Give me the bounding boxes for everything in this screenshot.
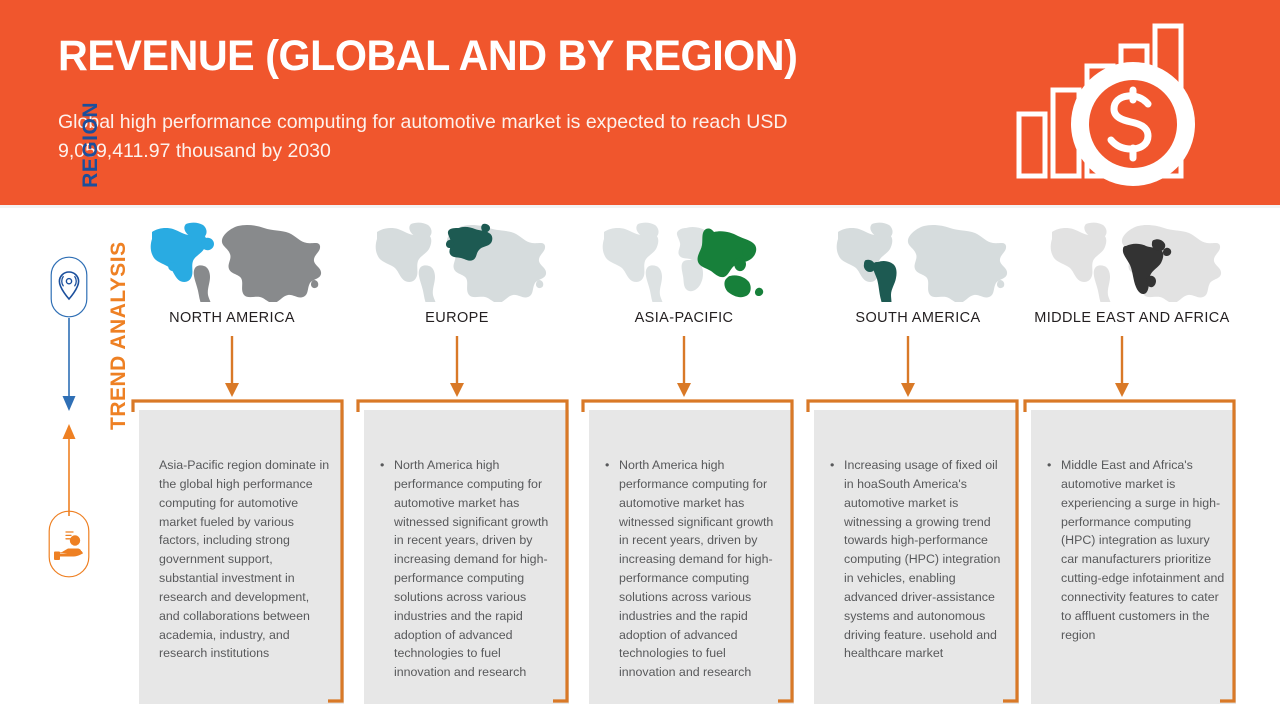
card-text: Middle East and Africa's automotive mark… bbox=[1045, 456, 1225, 644]
trend-card-middle-east-africa: Middle East and Africa's automotive mark… bbox=[1022, 398, 1246, 708]
region-column-south-america: SOUTH AMERICA bbox=[806, 218, 1030, 326]
region-label: ASIA-PACIFIC bbox=[572, 310, 796, 326]
hand-coin-icon bbox=[48, 510, 90, 578]
world-map-middle-east-africa-highlighted bbox=[1042, 218, 1222, 302]
card-text: North America high performance computing… bbox=[603, 456, 783, 682]
card-body: Increasing usage of fixed oil in hoaSout… bbox=[814, 410, 1019, 704]
connector-arrow-south-america bbox=[897, 336, 919, 398]
infographic-page: REVENUE (GLOBAL AND BY REGION) Global hi… bbox=[0, 0, 1280, 720]
world-map-europe-highlighted bbox=[367, 218, 547, 302]
world-map-asia-pacific-highlighted bbox=[594, 218, 774, 302]
card-text: Asia-Pacific region dominate in the glob… bbox=[159, 456, 331, 663]
region-column-asia-pacific: ASIA-PACIFIC bbox=[572, 218, 796, 326]
trend-card-south-america: Increasing usage of fixed oil in hoaSout… bbox=[805, 398, 1029, 708]
region-label: SOUTH AMERICA bbox=[806, 310, 1030, 326]
trend-card-asia-pacific: North America high performance computing… bbox=[580, 398, 804, 708]
down-arrow-blue bbox=[50, 318, 88, 413]
world-map-south-america-highlighted bbox=[828, 218, 1008, 302]
region-label: MIDDLE EAST AND AFRICA bbox=[1020, 310, 1244, 326]
card-body: Middle East and Africa's automotive mark… bbox=[1031, 410, 1236, 704]
connector-arrow-asia-pacific bbox=[673, 336, 695, 398]
trend-card-europe: North America high performance computing… bbox=[355, 398, 579, 708]
trend-card-north-america: Asia-Pacific region dominate in the glob… bbox=[130, 398, 354, 708]
up-arrow-orange bbox=[48, 424, 90, 516]
region-column-europe: EUROPE bbox=[345, 218, 569, 326]
rail-label-region: REGION bbox=[79, 102, 105, 222]
region-column-north-america: NORTH AMERICA bbox=[120, 218, 344, 326]
location-pin-icon bbox=[50, 256, 88, 318]
header-banner: REVENUE (GLOBAL AND BY REGION) Global hi… bbox=[0, 0, 1280, 205]
page-title: REVENUE (GLOBAL AND BY REGION) bbox=[58, 34, 797, 79]
region-column-middle-east-africa: MIDDLE EAST AND AFRICA bbox=[1020, 218, 1244, 326]
connector-arrow-north-america bbox=[221, 336, 243, 398]
connector-arrow-europe bbox=[446, 336, 468, 398]
card-body: North America high performance computing… bbox=[589, 410, 794, 704]
bar-chart-dollar-icon bbox=[1005, 18, 1205, 190]
connector-arrow-middle-east-africa bbox=[1111, 336, 1133, 398]
card-body: North America high performance computing… bbox=[364, 410, 569, 704]
world-map-north-america-highlighted bbox=[142, 218, 322, 302]
card-body: Asia-Pacific region dominate in the glob… bbox=[139, 410, 344, 704]
card-text: North America high performance computing… bbox=[378, 456, 558, 682]
region-label: EUROPE bbox=[345, 310, 569, 326]
header-divider bbox=[0, 205, 1280, 208]
card-text: Increasing usage of fixed oil in hoaSout… bbox=[828, 456, 1008, 663]
region-label: NORTH AMERICA bbox=[120, 310, 344, 326]
header-subtitle: Global high performance computing for au… bbox=[58, 108, 878, 167]
